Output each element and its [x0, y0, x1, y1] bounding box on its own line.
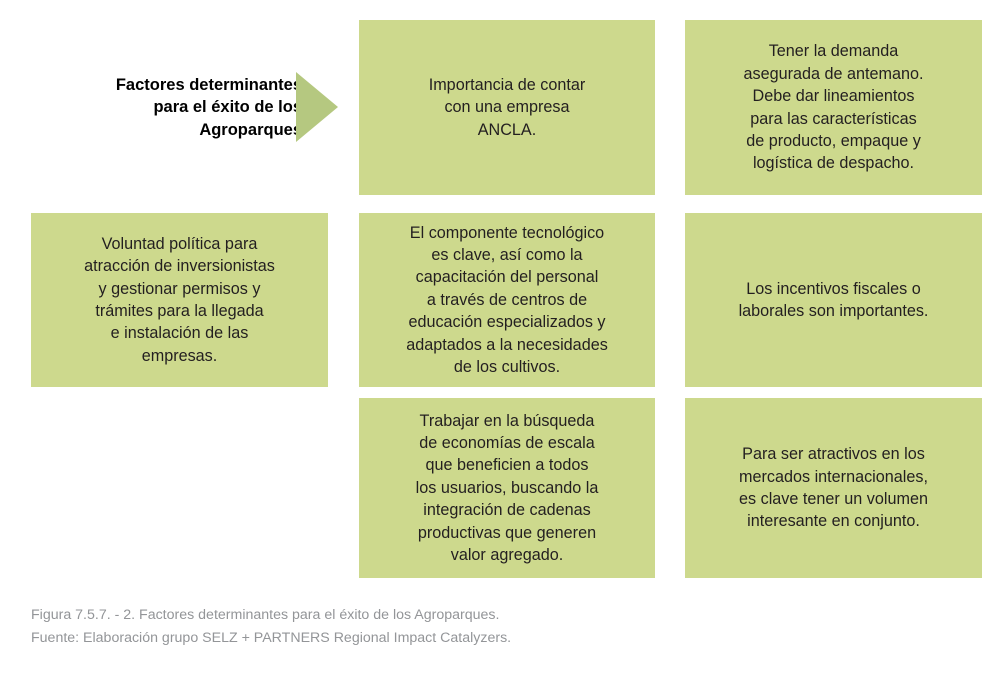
factor-box-text: Importancia de contar con una empresa AN… — [429, 74, 586, 141]
figure-caption-source: Fuente: Elaboración grupo SELZ + PARTNER… — [31, 627, 931, 650]
page-title: Factores determinantes para el éxito de … — [116, 74, 302, 141]
factor-box-text: El componente tecnológico es clave, así … — [406, 222, 608, 379]
arrow-right-triangle-icon — [296, 72, 338, 142]
factor-box-importancia-empresa-ancla: Importancia de contar con una empresa AN… — [359, 20, 655, 195]
factor-box-volumen-mercados-internacionales: Para ser atractivos en los mercados inte… — [685, 398, 982, 578]
factor-box-text: Tener la demanda asegurada de antemano. … — [744, 40, 924, 174]
factor-box-demanda-asegurada: Tener la demanda asegurada de antemano. … — [685, 20, 982, 195]
diagram-title-cell: Factores determinantes para el éxito de … — [31, 20, 328, 195]
factor-box-componente-tecnologico: El componente tecnológico es clave, así … — [359, 213, 655, 387]
factor-box-text: Voluntad política para atracción de inve… — [84, 233, 275, 367]
factor-box-text: Los incentivos fiscales o laborales son … — [739, 278, 929, 323]
figure-caption-title: Figura 7.5.7. - 2. Factores determinante… — [31, 604, 931, 627]
factor-box-incentivos-fiscales: Los incentivos fiscales o laborales son … — [685, 213, 982, 387]
factor-box-text: Trabajar en la búsqueda de economías de … — [416, 410, 599, 567]
agroparques-factors-diagram: Factores determinantes para el éxito de … — [0, 0, 1000, 678]
factor-box-economias-de-escala: Trabajar en la búsqueda de economías de … — [359, 398, 655, 578]
factor-box-text: Para ser atractivos en los mercados inte… — [739, 443, 928, 532]
factor-box-voluntad-politica: Voluntad política para atracción de inve… — [31, 213, 328, 387]
figure-caption: Figura 7.5.7. - 2. Factores determinante… — [31, 604, 931, 650]
